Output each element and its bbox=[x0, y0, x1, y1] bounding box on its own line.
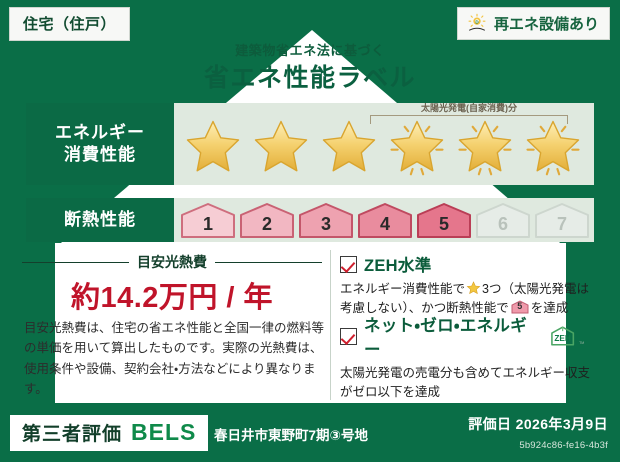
insulation-grade-value: 6 bbox=[498, 214, 508, 238]
criterion-net-zero-energy: ネット・ゼロ・エネルギー ZEH TM 太陽光発電の売電分も含めてエネルギー収支… bbox=[340, 312, 590, 403]
bels-chip-jp-label: 第三者評価 bbox=[22, 419, 122, 446]
inline-star-icon bbox=[466, 281, 481, 295]
insulation-grade-value: 4 bbox=[380, 214, 390, 238]
checkmark-icon bbox=[340, 328, 357, 345]
insulation-grade-value: 3 bbox=[321, 214, 331, 238]
bels-chip-en-label: BELS bbox=[131, 419, 196, 446]
criterion-net-zero-title: ネット・ゼロ・エネルギー bbox=[364, 312, 539, 360]
insulation-grade-badge: 1 bbox=[180, 202, 236, 238]
insulation-grade-badge: 5 bbox=[416, 202, 472, 238]
insulation-grade-value: 7 bbox=[557, 214, 567, 238]
solar-portion-note: 太陽光発電(自家消費)分 bbox=[370, 101, 568, 114]
inline-grade-badge-icon: 5 bbox=[511, 300, 529, 314]
label-subtitle: 建築物省エネ法に基づく bbox=[0, 40, 620, 59]
energy-performance-label: エネルギー 消費性能 bbox=[26, 103, 174, 185]
energy-label-line2: 消費性能 bbox=[64, 144, 136, 166]
property-address: 春日井市東野町7期③号地 bbox=[214, 424, 368, 444]
renewable-equipment-chip: D 再エネ設備あり bbox=[457, 7, 610, 40]
label-title: 省エネ性能ラベル bbox=[0, 58, 620, 94]
rule-left bbox=[22, 262, 129, 263]
zeh-body-part1: エネルギー消費性能で bbox=[340, 282, 465, 296]
energy-label-line1: エネルギー bbox=[55, 122, 145, 144]
criterion-net-zero-header: ネット・ゼロ・エネルギー ZEH TM bbox=[340, 312, 590, 360]
insulation-grade-badge: 2 bbox=[239, 202, 295, 238]
star-rating bbox=[174, 118, 586, 176]
checkmark-icon bbox=[340, 256, 357, 273]
utility-cost-heading-text: 目安光熱費 bbox=[137, 252, 207, 272]
insulation-label-text: 断熱性能 bbox=[64, 209, 136, 231]
inline-badge-value: 5 bbox=[511, 300, 529, 314]
building-type-chip: 住宅（住戸） bbox=[9, 7, 130, 41]
section-divider bbox=[330, 250, 331, 400]
star-icon bbox=[180, 118, 246, 176]
star-icon bbox=[316, 118, 382, 176]
energy-stars-area: 太陽光発電(自家消費)分 bbox=[174, 103, 594, 185]
criterion-zeh-title: ZEH水準 bbox=[364, 252, 432, 276]
criterion-net-zero-body: 太陽光発電の売電分も含めてエネルギー収支がゼロ以下を達成 bbox=[340, 364, 590, 403]
evaluation-id: 5b924c86-fe16-4b3f bbox=[519, 440, 608, 451]
criterion-zeh-header: ZEH水準 bbox=[340, 252, 590, 276]
insulation-grade-value: 1 bbox=[203, 214, 213, 238]
svg-text:ZEH: ZEH bbox=[554, 334, 571, 343]
insulation-grade-scale: 1234567 bbox=[174, 202, 590, 238]
evaluation-date: 評価日 2026年3月9日 bbox=[468, 414, 608, 434]
star-icon-solar bbox=[520, 118, 586, 176]
sun-icon: D bbox=[466, 12, 488, 34]
utility-cost-note: 目安光熱費は、住宅の省エネ性能と全国一律の燃料等の単価を用いて算出したものです。… bbox=[24, 318, 324, 399]
insulation-grade-badge: 7 bbox=[534, 202, 590, 238]
renewable-chip-label: 再エネ設備あり bbox=[494, 13, 599, 34]
bels-certification-chip: 第三者評価 BELS bbox=[10, 415, 208, 451]
svg-text:TM: TM bbox=[579, 341, 584, 345]
insulation-grade-value: 2 bbox=[262, 214, 272, 238]
criterion-zeh-level: ZEH水準 エネルギー消費性能で3つ（太陽光発電は考慮しない）、かつ断熱性能で5… bbox=[340, 252, 590, 319]
energy-performance-label: 住宅（住戸） D 再エネ設備あり 建築物省エネ法に基づく 省エネ性能ラベル エネ… bbox=[0, 0, 620, 462]
insulation-grade-badge: 6 bbox=[475, 202, 531, 238]
energy-performance-row: エネルギー 消費性能 太陽光発電(自家消費)分 bbox=[26, 103, 594, 185]
insulation-badges-area: 1234567 bbox=[174, 198, 594, 242]
rule-right bbox=[215, 262, 322, 263]
star-icon-solar bbox=[384, 118, 450, 176]
insulation-performance-row: 断熱性能 1234567 bbox=[26, 198, 594, 242]
utility-cost-heading: 目安光熱費 bbox=[22, 252, 322, 272]
insulation-grade-value: 5 bbox=[439, 214, 449, 238]
insulation-performance-label: 断熱性能 bbox=[26, 198, 174, 242]
insulation-grade-badge: 4 bbox=[357, 202, 413, 238]
utility-cost-value: 約14.2万円 / 年 bbox=[22, 274, 322, 316]
zeh-house-logo-icon: ZEH TM bbox=[549, 325, 590, 347]
star-icon-solar bbox=[452, 118, 518, 176]
insulation-grade-badge: 3 bbox=[298, 202, 354, 238]
star-icon bbox=[248, 118, 314, 176]
